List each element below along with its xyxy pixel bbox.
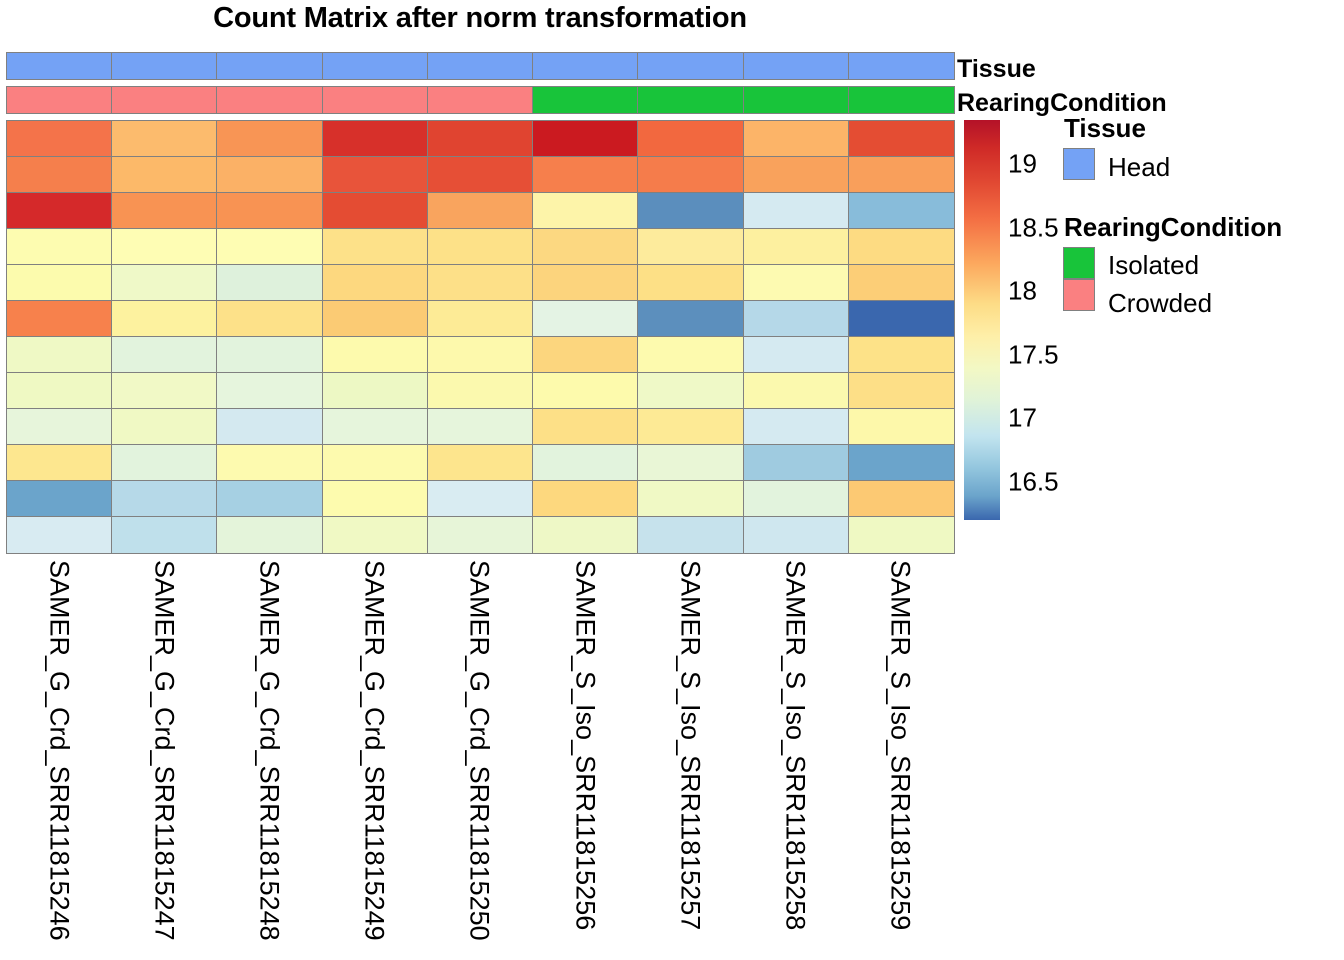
heatmap-cell	[111, 336, 218, 374]
legend-key-isolated[interactable]	[1063, 247, 1095, 279]
heatmap-cell	[111, 480, 218, 518]
rearing-cell	[6, 86, 113, 114]
heatmap-cell	[427, 372, 534, 410]
heatmap-cell	[322, 192, 429, 230]
heatmap-cell	[848, 444, 955, 482]
heatmap-cell	[532, 120, 639, 158]
heatmap-cell	[743, 480, 850, 518]
heatmap-cell	[532, 444, 639, 482]
heatmap-cell	[637, 372, 744, 410]
tissue-cell	[6, 52, 113, 80]
heatmap-cell	[532, 264, 639, 302]
heatmap-cell	[322, 120, 429, 158]
legend-key-crowded[interactable]	[1063, 279, 1095, 311]
column-label-slot: SAMER_S_Iso_SRR11815259	[848, 556, 953, 956]
rearing-cell	[848, 86, 955, 114]
heatmap-cell	[6, 264, 113, 302]
column-label: SAMER_G_Crd_SRR11815247	[148, 560, 179, 941]
heatmap-cell	[427, 336, 534, 374]
column-label: SAMER_G_Crd_SRR11815250	[464, 560, 495, 941]
column-label-slot: SAMER_G_Crd_SRR11815249	[322, 556, 427, 956]
heatmap-cell	[637, 156, 744, 194]
legend-label-head: Head	[1108, 152, 1170, 183]
heatmap-cell	[322, 444, 429, 482]
heatmap-cell	[322, 516, 429, 554]
heatmap-cell	[6, 372, 113, 410]
heatmap-cell	[743, 300, 850, 338]
rearing-cell	[532, 86, 639, 114]
column-label: SAMER_S_Iso_SRR11815258	[780, 560, 811, 930]
rearing-cell	[637, 86, 744, 114]
heatmap-cell	[532, 300, 639, 338]
tissue-cell	[532, 52, 639, 80]
heatmap-cell	[532, 480, 639, 518]
heatmap-cell	[216, 120, 323, 158]
heatmap-cell	[532, 372, 639, 410]
heatmap-cell	[637, 264, 744, 302]
tissue-cell	[111, 52, 218, 80]
tissue-bar-title: Tissue	[957, 55, 1036, 84]
column-label-slot: SAMER_G_Crd_SRR11815247	[111, 556, 216, 956]
heatmap-cell	[111, 444, 218, 482]
tissue-cell	[216, 52, 323, 80]
column-label: SAMER_S_Iso_SRR11815259	[885, 560, 916, 930]
column-label: SAMER_G_Crd_SRR11815246	[43, 560, 74, 941]
heatmap-cell	[322, 372, 429, 410]
heatmap-cell	[848, 228, 955, 266]
heatmap-cell	[6, 156, 113, 194]
heatmap-cell	[322, 228, 429, 266]
heatmap-cell	[637, 120, 744, 158]
heatmap-cell	[637, 444, 744, 482]
heatmap-cell	[848, 120, 955, 158]
heatmap-cell	[637, 300, 744, 338]
heatmap-cell	[743, 156, 850, 194]
heatmap-cell	[322, 480, 429, 518]
heatmap-cell	[111, 408, 218, 446]
legend-label-isolated: Isolated	[1108, 250, 1199, 281]
heatmap-cell	[322, 156, 429, 194]
heatmap-cell	[743, 336, 850, 374]
colorbar-tick-label: 17	[1008, 403, 1037, 434]
colorbar-gradient	[964, 120, 1000, 520]
heatmap-cell	[848, 264, 955, 302]
heatmap-cell	[427, 408, 534, 446]
heatmap-cell	[743, 192, 850, 230]
heatmap-cell	[111, 516, 218, 554]
column-label: SAMER_S_Iso_SRR11815257	[674, 560, 705, 930]
heatmap-cell	[6, 444, 113, 482]
heatmap-grid	[6, 120, 953, 552]
heatmap-cell	[427, 228, 534, 266]
heatmap-cell	[848, 516, 955, 554]
heatmap-cell	[111, 192, 218, 230]
rearing-cell	[111, 86, 218, 114]
tissue-cell	[637, 52, 744, 80]
colorbar-tick-label: 17.5	[1008, 339, 1059, 370]
heatmap-cell	[216, 408, 323, 446]
heatmap-cell	[111, 300, 218, 338]
heatmap-cell	[743, 228, 850, 266]
heatmap-figure: Count Matrix after norm transformation T…	[0, 0, 1344, 960]
tissue-cell	[427, 52, 534, 80]
heatmap-cell	[6, 408, 113, 446]
column-label-slot: SAMER_S_Iso_SRR11815257	[637, 556, 742, 956]
heatmap-cell	[532, 516, 639, 554]
heatmap-cell	[637, 408, 744, 446]
heatmap-cell	[216, 372, 323, 410]
heatmap-cell	[6, 300, 113, 338]
heatmap-cell	[216, 264, 323, 302]
column-labels: SAMER_G_Crd_SRR11815246SAMER_G_Crd_SRR11…	[6, 556, 953, 956]
heatmap-cell	[111, 228, 218, 266]
heatmap-cell	[6, 228, 113, 266]
colorbar-tick-label: 16.5	[1008, 466, 1059, 497]
rearing-cell	[427, 86, 534, 114]
rearing-cell	[322, 86, 429, 114]
heatmap-cell	[6, 192, 113, 230]
column-label: SAMER_S_Iso_SRR11815256	[569, 560, 600, 930]
heatmap-cell	[111, 264, 218, 302]
heatmap-cell	[427, 156, 534, 194]
column-label: SAMER_G_Crd_SRR11815249	[359, 560, 390, 941]
heatmap-cell	[637, 192, 744, 230]
heatmap-cell	[637, 336, 744, 374]
heatmap-cell	[743, 120, 850, 158]
heatmap-cell	[743, 408, 850, 446]
tissue-cell	[322, 52, 429, 80]
heatmap-cell	[6, 120, 113, 158]
column-label-slot: SAMER_G_Crd_SRR11815250	[427, 556, 532, 956]
heatmap-cell	[848, 300, 955, 338]
heatmap-cell	[216, 336, 323, 374]
heatmap-cell	[427, 264, 534, 302]
heatmap-cell	[848, 192, 955, 230]
colorbar-tick-label: 18	[1008, 276, 1037, 307]
legend-key-head[interactable]	[1063, 148, 1095, 180]
legend-label-crowded: Crowded	[1108, 288, 1212, 319]
column-label-slot: SAMER_G_Crd_SRR11815246	[6, 556, 111, 956]
colorbar-tick-label: 19	[1008, 149, 1037, 180]
rearing-annotation-bar	[6, 86, 953, 114]
heatmap-cell	[216, 192, 323, 230]
heatmap-cell	[427, 480, 534, 518]
column-label-slot: SAMER_S_Iso_SRR11815258	[743, 556, 848, 956]
heatmap-cell	[848, 372, 955, 410]
heatmap-cell	[427, 120, 534, 158]
heatmap-cell	[637, 228, 744, 266]
heatmap-cell	[216, 444, 323, 482]
heatmap-cell	[6, 336, 113, 374]
heatmap-cell	[427, 192, 534, 230]
legend-title-rearing: RearingCondition	[1064, 212, 1282, 243]
legend-title-tissue: Tissue	[1064, 113, 1146, 144]
heatmap-cell	[111, 156, 218, 194]
heatmap-cell	[848, 336, 955, 374]
heatmap-cell	[743, 372, 850, 410]
heatmap-cell	[322, 408, 429, 446]
rearing-cell	[216, 86, 323, 114]
heatmap-cell	[743, 264, 850, 302]
heatmap-cell	[532, 228, 639, 266]
heatmap-cell	[848, 480, 955, 518]
heatmap-cell	[216, 156, 323, 194]
heatmap-cell	[216, 480, 323, 518]
heatmap-cell	[743, 516, 850, 554]
heatmap-cell	[532, 408, 639, 446]
heatmap-cell	[637, 516, 744, 554]
heatmap-cell	[111, 120, 218, 158]
heatmap-cell	[216, 300, 323, 338]
heatmap-cell	[532, 336, 639, 374]
heatmap-cell	[427, 516, 534, 554]
heatmap-cell	[216, 516, 323, 554]
heatmap-cell	[6, 480, 113, 518]
heatmap-cell	[322, 300, 429, 338]
heatmap-cell	[216, 228, 323, 266]
heatmap-cell	[427, 444, 534, 482]
tissue-cell	[848, 52, 955, 80]
column-label: SAMER_G_Crd_SRR11815248	[254, 560, 285, 941]
heatmap-cell	[6, 516, 113, 554]
rearing-cell	[743, 86, 850, 114]
heatmap-cell	[848, 408, 955, 446]
heatmap-cell	[322, 336, 429, 374]
page-title: Count Matrix after norm transformation	[0, 2, 960, 35]
heatmap-cell	[532, 192, 639, 230]
heatmap-cell	[532, 156, 639, 194]
heatmap-cell	[848, 156, 955, 194]
heatmap-cell	[743, 444, 850, 482]
heatmap-cell	[111, 372, 218, 410]
colorbar-tick-label: 18.5	[1008, 212, 1059, 243]
colorbar: 1918.51817.51716.5	[964, 120, 1000, 520]
column-label-slot: SAMER_S_Iso_SRR11815256	[532, 556, 637, 956]
heatmap-cell	[322, 264, 429, 302]
tissue-annotation-bar	[6, 52, 953, 80]
column-label-slot: SAMER_G_Crd_SRR11815248	[216, 556, 321, 956]
tissue-cell	[743, 52, 850, 80]
heatmap-cell	[427, 300, 534, 338]
heatmap-cell	[637, 480, 744, 518]
